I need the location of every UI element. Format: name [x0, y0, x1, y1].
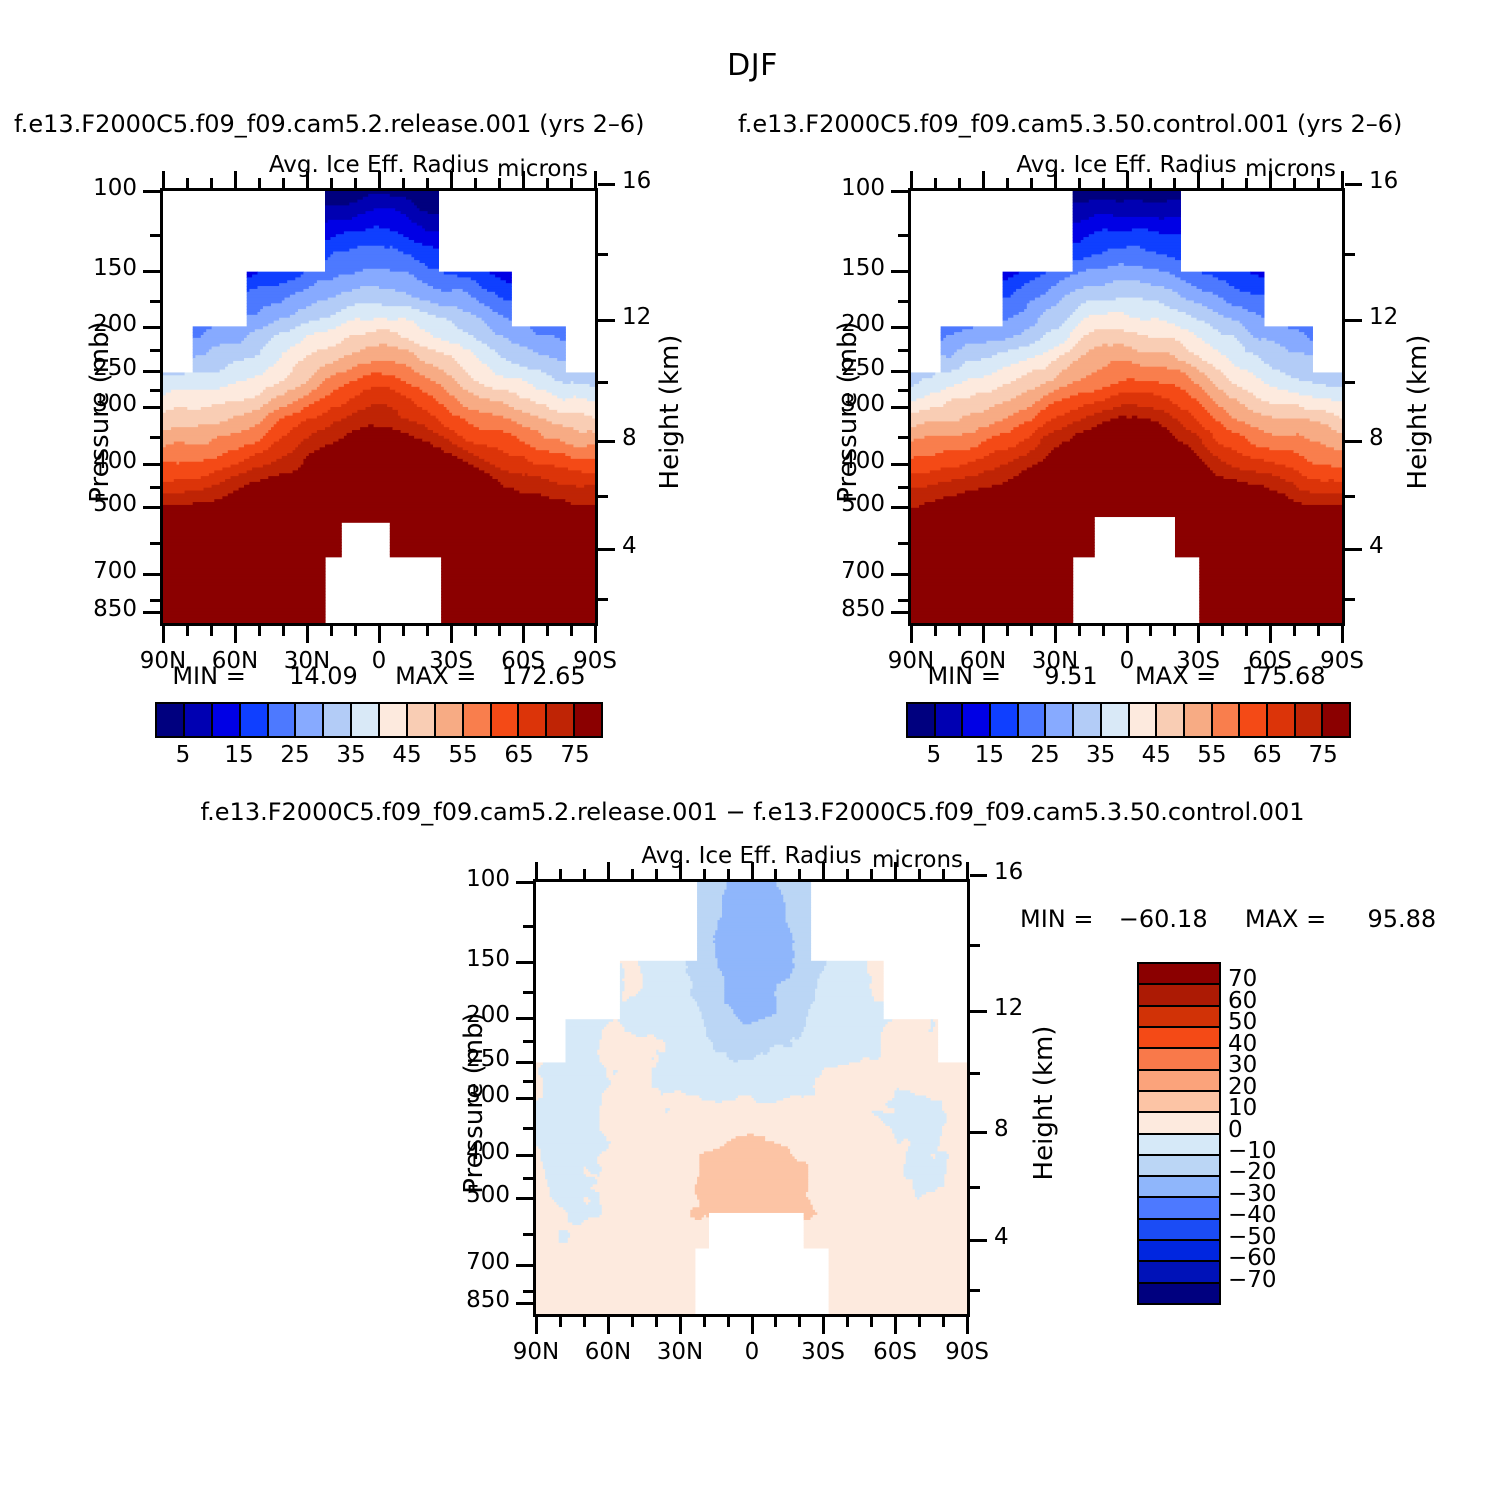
right-panel-lat-minor-tick-top	[1006, 178, 1009, 188]
right-panel-pressure-minor-tick	[898, 349, 908, 352]
colorbar-cell	[1268, 704, 1296, 736]
left-panel-pressure-tick-label: 150	[25, 255, 137, 281]
right-panel-lat-tick-mark	[1341, 626, 1344, 643]
left-panel-pressure-minor-tick	[150, 389, 160, 392]
left-panel-lat-minor-tick	[546, 626, 549, 636]
diff-panel-lat-minor-tick-top	[798, 869, 801, 879]
colorbar-cell	[408, 704, 436, 736]
right-panel-lat-tick-mark-top	[910, 171, 913, 188]
diff-panel-pressure-tick-label: 100	[398, 866, 510, 892]
right-panel-pressure-tick-label: 400	[773, 448, 885, 474]
diff-panel-pressure-minor-tick	[523, 1040, 533, 1043]
left-panel-pressure-tick-mark	[143, 611, 160, 614]
colorbar-cell	[1139, 985, 1219, 1006]
right-panel-pressure-tick-label: 250	[773, 355, 885, 381]
colorbar-cell	[936, 704, 964, 736]
left-panel-lat-minor-tick-top	[498, 178, 501, 188]
left-panel-pressure-tick-mark	[143, 190, 160, 193]
colorbar-cell	[1323, 704, 1349, 736]
colorbar-cell	[1139, 1135, 1219, 1156]
left-panel-lat-minor-tick-top	[258, 178, 261, 188]
left-panel-plot-area	[160, 188, 598, 626]
left-panel-lat-minor-tick-top	[546, 178, 549, 188]
left-panel-pressure-minor-tick	[150, 599, 160, 602]
left-panel-lat-tick-mark-top	[594, 171, 597, 188]
colorbar-tick-label: 75	[1273, 742, 1373, 768]
left-panel-pressure-tick-mark	[143, 573, 160, 576]
left-panel-lat-tick-mark	[306, 626, 309, 643]
right-panel-height-tick-label: 12	[1369, 304, 1398, 330]
diff-panel-pressure-tick-label: 250	[398, 1046, 510, 1072]
left-panel-lat-tick-label: 90S	[535, 648, 655, 674]
right-panel-lat-minor-tick-top	[1030, 178, 1033, 188]
left-panel-pressure-tick-mark	[143, 406, 160, 409]
right-panel-plot-area	[908, 188, 1345, 626]
diff-panel-height-tick-mark	[970, 1131, 987, 1134]
diff-panel-lat-tick-mark-top	[607, 862, 610, 879]
colorbar-cell	[1139, 1028, 1219, 1049]
right-panel-lat-tick-mark	[1197, 626, 1200, 643]
colorbar-cell	[241, 704, 269, 736]
colorbar-cell	[213, 704, 241, 736]
left-panel-lat-tick-mark	[162, 626, 165, 643]
diff-panel-pressure-tick-mark	[516, 1154, 533, 1157]
right-panel-lat-tick-mark-top	[1341, 171, 1344, 188]
diff-panel-lat-minor-tick	[559, 1317, 562, 1327]
colorbar-cell	[575, 704, 601, 736]
colorbar-cell	[1139, 1220, 1219, 1241]
right-panel-height-minor-tick	[1345, 598, 1355, 601]
left-panel-lat-tick-mark	[378, 626, 381, 643]
colorbar-cell	[324, 704, 352, 736]
diff-panel-lat-tick-mark	[535, 1317, 538, 1334]
left-panel-lat-minor-tick	[402, 626, 405, 636]
left-panel-height-tick-mark	[598, 183, 615, 186]
right-panel-lat-minor-tick	[1078, 626, 1081, 636]
left-panel-height-tick-mark	[598, 548, 615, 551]
right-panel-pressure-tick-label: 200	[773, 311, 885, 337]
diff-panel-height-minor-tick	[970, 1186, 980, 1189]
left-panel-lat-minor-tick-top	[354, 178, 357, 188]
left-panel-colorbar	[155, 702, 603, 738]
diff-panel-lat-minor-tick-top	[918, 869, 921, 879]
left-panel-height-minor-tick	[598, 598, 608, 601]
left-panel-y2-axis-label: Height (km)	[655, 287, 685, 537]
right-panel-pressure-minor-tick	[898, 599, 908, 602]
diff-panel-lat-tick-mark-top	[751, 862, 754, 879]
right-panel-lat-minor-tick-top	[1173, 178, 1176, 188]
left-panel-lat-minor-tick	[186, 626, 189, 636]
right-panel-pressure-tick-label: 850	[773, 596, 885, 622]
left-panel-lat-tick-mark	[594, 626, 597, 643]
colorbar-cell	[908, 704, 936, 736]
left-panel-lat-minor-tick-top	[570, 178, 573, 188]
left-panel-lat-minor-tick	[498, 626, 501, 636]
diff-panel-lat-minor-tick-top	[703, 869, 706, 879]
right-panel-colorbar	[906, 702, 1351, 738]
right-panel-pressure-tick-label: 700	[773, 558, 885, 584]
right-panel-height-tick-mark	[1345, 548, 1362, 551]
left-panel-height-minor-tick	[598, 381, 608, 384]
right-panel-lat-minor-tick	[1293, 626, 1296, 636]
diff-panel-lat-minor-tick-top	[559, 869, 562, 879]
right-panel-height-minor-tick	[1345, 381, 1355, 384]
diff-panel-lat-minor-tick	[727, 1317, 730, 1327]
colorbar-cell	[991, 704, 1019, 736]
colorbar-cell	[352, 704, 380, 736]
left-panel-lat-minor-tick	[570, 626, 573, 636]
diff-panel-lat-minor-tick-top	[870, 869, 873, 879]
diff-panel-height-minor-tick	[970, 1072, 980, 1075]
colorbar-cell	[1139, 1007, 1219, 1028]
right-panel-pressure-tick-label: 150	[773, 255, 885, 281]
left-panel-pressure-minor-tick	[150, 542, 160, 545]
diff-panel-lat-tick-mark	[822, 1317, 825, 1334]
panel-title-diff: f.e13.F2000C5.f09_f09.cam5.2.release.001…	[0, 798, 1505, 826]
diff-panel-plot-area	[533, 879, 970, 1317]
right-panel-lat-tick-mark	[1054, 626, 1057, 643]
right-panel-height-tick-label: 16	[1369, 168, 1398, 194]
left-panel-lat-tick-mark	[450, 626, 453, 643]
right-panel-lat-minor-tick	[1006, 626, 1009, 636]
right-panel-lat-minor-tick	[1221, 626, 1224, 636]
right-panel-pressure-tick-mark	[891, 406, 908, 409]
colorbar-cell	[1046, 704, 1074, 736]
diff-panel-lat-tick-mark-top	[679, 862, 682, 879]
left-panel-lat-minor-tick-top	[426, 178, 429, 188]
colorbar-cell	[1139, 1284, 1219, 1303]
diff-panel-height-minor-tick	[970, 1289, 980, 1292]
diff-panel-height-minor-tick	[970, 944, 980, 947]
diff-panel-pressure-minor-tick	[523, 1080, 533, 1083]
diff-panel-lat-minor-tick	[631, 1317, 634, 1327]
left-panel-height-tick-mark	[598, 319, 615, 322]
right-panel-pressure-minor-tick	[898, 542, 908, 545]
right-panel-lat-tick-mark-top	[1054, 171, 1057, 188]
diff-panel-height-tick-mark	[970, 874, 987, 877]
diff-min-value: −60.18	[1119, 905, 1208, 933]
right-panel-units-label: microns	[1245, 156, 1336, 182]
colorbar-cell	[1213, 704, 1241, 736]
right-panel-height-tick-label: 8	[1369, 425, 1384, 451]
left-panel-lat-minor-tick-top	[210, 178, 213, 188]
diff-panel-pressure-tick-label: 500	[398, 1182, 510, 1208]
colorbar-cell	[1139, 1049, 1219, 1070]
diff-panel-lat-tick-mark	[679, 1317, 682, 1334]
colorbar-cell	[1240, 704, 1268, 736]
right-panel-pressure-minor-tick	[898, 389, 908, 392]
right-panel-pressure-tick-label: 100	[773, 175, 885, 201]
right-panel-pressure-tick-mark	[891, 190, 908, 193]
left-panel-pressure-tick-label: 300	[25, 391, 137, 417]
left-panel-lat-tick-mark-top	[306, 171, 309, 188]
right-panel-lat-tick-mark	[910, 626, 913, 643]
diff-panel-lat-tick-mark-top	[535, 862, 538, 879]
left-panel-pressure-tick-label: 850	[25, 596, 137, 622]
colorbar-cell	[185, 704, 213, 736]
right-panel-lat-minor-tick	[934, 626, 937, 636]
diff-panel-height-tick-label: 8	[994, 1116, 1009, 1142]
diff-panel-y2-axis-label: Height (km)	[1029, 978, 1059, 1228]
diff-panel-pressure-minor-tick	[523, 1290, 533, 1293]
left-panel-height-tick-label: 4	[622, 533, 637, 559]
colorbar-cell	[1139, 1071, 1219, 1092]
left-panel-lat-minor-tick-top	[186, 178, 189, 188]
diff-panel-lat-tick-mark	[894, 1317, 897, 1334]
right-panel-lat-minor-tick	[1245, 626, 1248, 636]
colorbar-cell	[963, 704, 991, 736]
left-panel-lat-tick-mark-top	[234, 171, 237, 188]
right-panel-pressure-minor-tick	[898, 436, 908, 439]
diff-panel-lat-tick-mark-top	[894, 862, 897, 879]
colorbar-tick-label: 75	[525, 742, 625, 768]
right-panel-pressure-minor-tick	[898, 234, 908, 237]
right-panel-pressure-tick-mark	[891, 326, 908, 329]
colorbar-cell	[157, 704, 185, 736]
left-panel-lat-minor-tick-top	[402, 178, 405, 188]
diff-panel-height-tick-label: 16	[994, 859, 1023, 885]
diff-panel-lat-minor-tick	[655, 1317, 658, 1327]
colorbar-cell	[492, 704, 520, 736]
right-panel-pressure-tick-mark	[891, 370, 908, 373]
diff-max-label: MAX =	[1245, 905, 1326, 933]
right-panel-lat-tick-mark	[1269, 626, 1272, 643]
left-panel-pressure-tick-mark	[143, 370, 160, 373]
colorbar-cell	[1074, 704, 1102, 736]
left-panel-pressure-minor-tick	[150, 349, 160, 352]
diff-panel-lat-tick-mark	[607, 1317, 610, 1334]
right-panel-lat-minor-tick	[1173, 626, 1176, 636]
diff-panel-pressure-tick-label: 700	[398, 1249, 510, 1275]
colorbar-cell	[1139, 1113, 1219, 1134]
right-panel-pressure-tick-label: 300	[773, 391, 885, 417]
diff-panel-pressure-tick-mark	[516, 1197, 533, 1200]
diff-panel-lat-minor-tick	[918, 1317, 921, 1327]
colorbar-cell	[1296, 704, 1324, 736]
right-panel-pressure-minor-tick	[898, 300, 908, 303]
right-panel-pressure-tick-label: 500	[773, 491, 885, 517]
diff-panel-pressure-tick-label: 300	[398, 1082, 510, 1108]
right-panel-lat-tick-mark	[1126, 626, 1129, 643]
colorbar-cell	[436, 704, 464, 736]
right-panel-lat-minor-tick-top	[1149, 178, 1152, 188]
right-panel-height-tick-label: 4	[1369, 533, 1384, 559]
diff-panel-lat-minor-tick-top	[727, 869, 730, 879]
left-panel-pressure-tick-label: 500	[25, 491, 137, 517]
right-panel-pressure-tick-mark	[891, 270, 908, 273]
diff-panel-lat-minor-tick-top	[655, 869, 658, 879]
left-panel-height-tick-label: 12	[622, 304, 651, 330]
diff-panel-pressure-tick-mark	[516, 1017, 533, 1020]
right-panel-lat-minor-tick-top	[1102, 178, 1105, 188]
left-panel-lat-minor-tick	[474, 626, 477, 636]
left-panel-pressure-minor-tick	[150, 436, 160, 439]
diff-panel-height-tick-label: 4	[994, 1224, 1009, 1250]
diff-panel-lat-minor-tick	[774, 1317, 777, 1327]
diff-colorbar-tick-label: −70	[1228, 1267, 1277, 1293]
left-panel-lat-minor-tick-top	[474, 178, 477, 188]
diff-max-value: 95.88	[1367, 905, 1436, 933]
diff-panel-pressure-tick-mark	[516, 1097, 533, 1100]
left-panel-pressure-tick-mark	[143, 506, 160, 509]
diff-panel-lat-minor-tick	[846, 1317, 849, 1327]
colorbar-cell	[464, 704, 492, 736]
left-panel-pressure-tick-label: 100	[25, 175, 137, 201]
diff-panel-pressure-tick-mark	[516, 1264, 533, 1267]
colorbar-cell	[547, 704, 575, 736]
colorbar-cell	[1139, 1177, 1219, 1198]
diff-panel-lat-tick-mark-top	[822, 862, 825, 879]
diff-panel-lat-minor-tick	[583, 1317, 586, 1327]
right-panel-lat-minor-tick	[1317, 626, 1320, 636]
diff-panel-pressure-tick-label: 200	[398, 1002, 510, 1028]
colorbar-cell	[380, 704, 408, 736]
panel-title-left: f.e13.F2000C5.f09_f09.cam5.2.release.001…	[14, 110, 645, 138]
right-panel-y2-axis-label: Height (km)	[1403, 287, 1433, 537]
colorbar-cell	[296, 704, 324, 736]
left-panel-lat-minor-tick	[354, 626, 357, 636]
right-panel-lat-tick-mark-top	[1126, 171, 1129, 188]
diff-panel-pressure-tick-label: 850	[398, 1287, 510, 1313]
right-panel-pressure-minor-tick	[898, 486, 908, 489]
right-panel-lat-minor-tick-top	[1317, 178, 1320, 188]
diff-panel-height-tick-label: 12	[994, 995, 1023, 1021]
colorbar-cell	[1139, 1092, 1219, 1113]
colorbar-cell	[269, 704, 297, 736]
diff-panel-lat-minor-tick-top	[846, 869, 849, 879]
colorbar-cell	[1139, 964, 1219, 985]
right-panel-lat-tick-label: 90S	[1282, 648, 1402, 674]
left-panel-units-label: microns	[497, 156, 588, 182]
diff-panel-lat-minor-tick	[798, 1317, 801, 1327]
left-panel-pressure-tick-mark	[143, 463, 160, 466]
right-panel-pressure-tick-mark	[891, 463, 908, 466]
right-panel-lat-minor-tick-top	[934, 178, 937, 188]
right-panel-lat-tick-mark-top	[1197, 171, 1200, 188]
left-panel-height-tick-mark	[598, 440, 615, 443]
diff-panel-lat-tick-label: 90S	[907, 1339, 1027, 1365]
left-panel-lat-tick-mark-top	[450, 171, 453, 188]
right-panel-pressure-tick-mark	[891, 506, 908, 509]
right-panel-lat-minor-tick	[1102, 626, 1105, 636]
diff-panel-lat-minor-tick	[870, 1317, 873, 1327]
colorbar-cell	[1185, 704, 1213, 736]
left-panel-height-tick-label: 16	[622, 168, 651, 194]
left-panel-pressure-minor-tick	[150, 486, 160, 489]
diff-panel-colorbar	[1137, 962, 1221, 1305]
diff-panel-pressure-tick-label: 150	[398, 946, 510, 972]
diff-panel-pressure-minor-tick	[523, 925, 533, 928]
right-panel-height-tick-mark	[1345, 183, 1362, 186]
diff-panel-lat-minor-tick-top	[583, 869, 586, 879]
left-panel-lat-minor-tick	[330, 626, 333, 636]
diff-panel-pressure-tick-mark	[516, 1302, 533, 1305]
left-panel-lat-minor-tick	[210, 626, 213, 636]
right-panel-height-tick-mark	[1345, 319, 1362, 322]
diff-panel-pressure-minor-tick	[523, 991, 533, 994]
diff-panel-lat-tick-mark	[966, 1317, 969, 1334]
left-panel-pressure-minor-tick	[150, 300, 160, 303]
diff-panel-pressure-tick-mark	[516, 961, 533, 964]
left-panel-lat-minor-tick	[282, 626, 285, 636]
left-panel-lat-minor-tick-top	[282, 178, 285, 188]
left-panel-pressure-tick-label: 250	[25, 355, 137, 381]
left-panel-pressure-tick-mark	[143, 326, 160, 329]
colorbar-cell	[1139, 1241, 1219, 1262]
colorbar-cell	[1139, 1156, 1219, 1177]
left-panel-height-minor-tick	[598, 253, 608, 256]
right-panel-height-minor-tick	[1345, 253, 1355, 256]
diff-panel-lat-tick-mark	[751, 1317, 754, 1334]
right-panel-height-minor-tick	[1345, 495, 1355, 498]
colorbar-cell	[1130, 704, 1158, 736]
diff-panel-lat-minor-tick-top	[942, 869, 945, 879]
diff-panel-minmax: MIN = −60.18 MAX = 95.88	[1020, 905, 1436, 933]
diff-panel-pressure-minor-tick	[523, 1127, 533, 1130]
left-panel-pressure-tick-label: 200	[25, 311, 137, 337]
diff-min-label: MIN =	[1020, 905, 1093, 933]
right-panel-lat-minor-tick-top	[1078, 178, 1081, 188]
left-panel-pressure-tick-label: 700	[25, 558, 137, 584]
left-panel-pressure-tick-label: 400	[25, 448, 137, 474]
left-panel-pressure-minor-tick	[150, 234, 160, 237]
right-panel-pressure-tick-mark	[891, 573, 908, 576]
left-panel-lat-tick-mark	[522, 626, 525, 643]
diff-panel-lat-tick-mark-top	[966, 862, 969, 879]
right-panel-height-tick-mark	[1345, 440, 1362, 443]
left-panel-lat-tick-mark-top	[378, 171, 381, 188]
right-panel-lat-minor-tick	[1149, 626, 1152, 636]
right-panel-lat-tick-mark-top	[1269, 171, 1272, 188]
right-panel-lat-minor-tick	[1030, 626, 1033, 636]
right-panel-lat-minor-tick-top	[1245, 178, 1248, 188]
left-panel-height-minor-tick	[598, 495, 608, 498]
right-panel-lat-tick-mark	[982, 626, 985, 643]
diff-panel-height-tick-mark	[970, 1239, 987, 1242]
colorbar-cell	[1102, 704, 1130, 736]
colorbar-cell	[519, 704, 547, 736]
diff-panel-lat-minor-tick-top	[631, 869, 634, 879]
left-panel-lat-minor-tick-top	[330, 178, 333, 188]
colorbar-cell	[1157, 704, 1185, 736]
left-panel-lat-minor-tick	[258, 626, 261, 636]
left-panel-pressure-tick-mark	[143, 270, 160, 273]
right-panel-lat-minor-tick-top	[958, 178, 961, 188]
panel-title-right: f.e13.F2000C5.f09_f09.cam5.3.50.control.…	[738, 110, 1402, 138]
right-panel-pressure-tick-mark	[891, 611, 908, 614]
diff-panel-lat-minor-tick	[703, 1317, 706, 1327]
diff-panel-pressure-minor-tick	[523, 1233, 533, 1236]
colorbar-cell	[1019, 704, 1047, 736]
diff-panel-lat-minor-tick-top	[774, 869, 777, 879]
right-panel-lat-minor-tick	[958, 626, 961, 636]
right-panel-lat-minor-tick-top	[1221, 178, 1224, 188]
diff-panel-pressure-tick-label: 400	[398, 1139, 510, 1165]
diff-panel-lat-minor-tick	[942, 1317, 945, 1327]
diff-panel-height-tick-mark	[970, 1010, 987, 1013]
diff-panel-pressure-tick-mark	[516, 881, 533, 884]
right-panel-lat-tick-mark-top	[982, 171, 985, 188]
right-panel-lat-minor-tick-top	[1293, 178, 1296, 188]
left-panel-lat-tick-mark	[234, 626, 237, 643]
left-panel-lat-tick-mark-top	[522, 171, 525, 188]
figure-suptitle: DJF	[0, 48, 1505, 83]
left-panel-lat-minor-tick	[426, 626, 429, 636]
diff-panel-pressure-minor-tick	[523, 1177, 533, 1180]
colorbar-cell	[1139, 1262, 1219, 1283]
left-panel-height-tick-label: 8	[622, 425, 637, 451]
colorbar-cell	[1139, 1198, 1219, 1219]
